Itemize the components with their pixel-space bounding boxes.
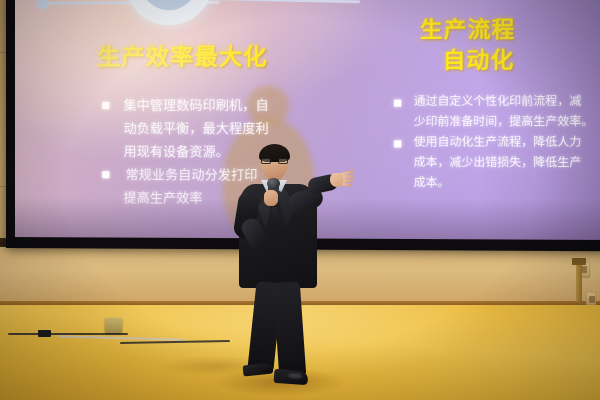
presentation-photo: 生产效率最大化 集中管理数码印刷机，自 动负载平衡，最大程度利 用现有设备资源。…: [0, 0, 600, 400]
slide-left-bullet1-line3: 用现有设备资源。: [124, 141, 229, 160]
slide-left-bullet1-line1: 集中管理数码印刷机，自: [124, 95, 269, 114]
slide-right-bullet2-line3: 成本。: [414, 174, 450, 190]
bullet-marker: [394, 140, 401, 147]
glasses-icon: [261, 158, 288, 164]
speaker-shoe: [274, 369, 309, 385]
equipment-stand-top: [572, 258, 586, 265]
slide-right-heading-line1: 生产流程: [420, 12, 516, 45]
slide-right-bullet1-line1: 通过自定义个性化印前流程，减: [414, 92, 582, 108]
slide-right-heading-line2: 自动化: [443, 42, 515, 75]
speaker-right-hand: [330, 168, 354, 187]
slide-right-bullet2-line1: 使用自动化生产流程，降低人力: [414, 133, 582, 149]
slide-left-bullet1-line2: 动负载平衡，最大程度利: [124, 118, 269, 137]
microphone-head-icon: [267, 178, 280, 189]
bullet-marker: [102, 171, 109, 178]
slide-left-heading: 生产效率最大化: [97, 37, 267, 72]
cable-connector: [38, 330, 51, 337]
slide-left-bullet2-line1: 常规业务自动分发打印: [126, 164, 258, 183]
speaker-left-hand: [264, 190, 278, 206]
power-strip: [105, 318, 122, 333]
bullet-marker: [394, 100, 401, 107]
wall-outlet-icon: [586, 292, 596, 305]
equipment-stand: [576, 262, 582, 302]
slide-right-bullet1-line2: 少印前准备时间，提高生产效率。: [414, 113, 594, 129]
bullet-marker: [102, 102, 109, 109]
slide-right-bullet2-line2: 成本，减少出错损失，降低生产: [414, 154, 582, 171]
